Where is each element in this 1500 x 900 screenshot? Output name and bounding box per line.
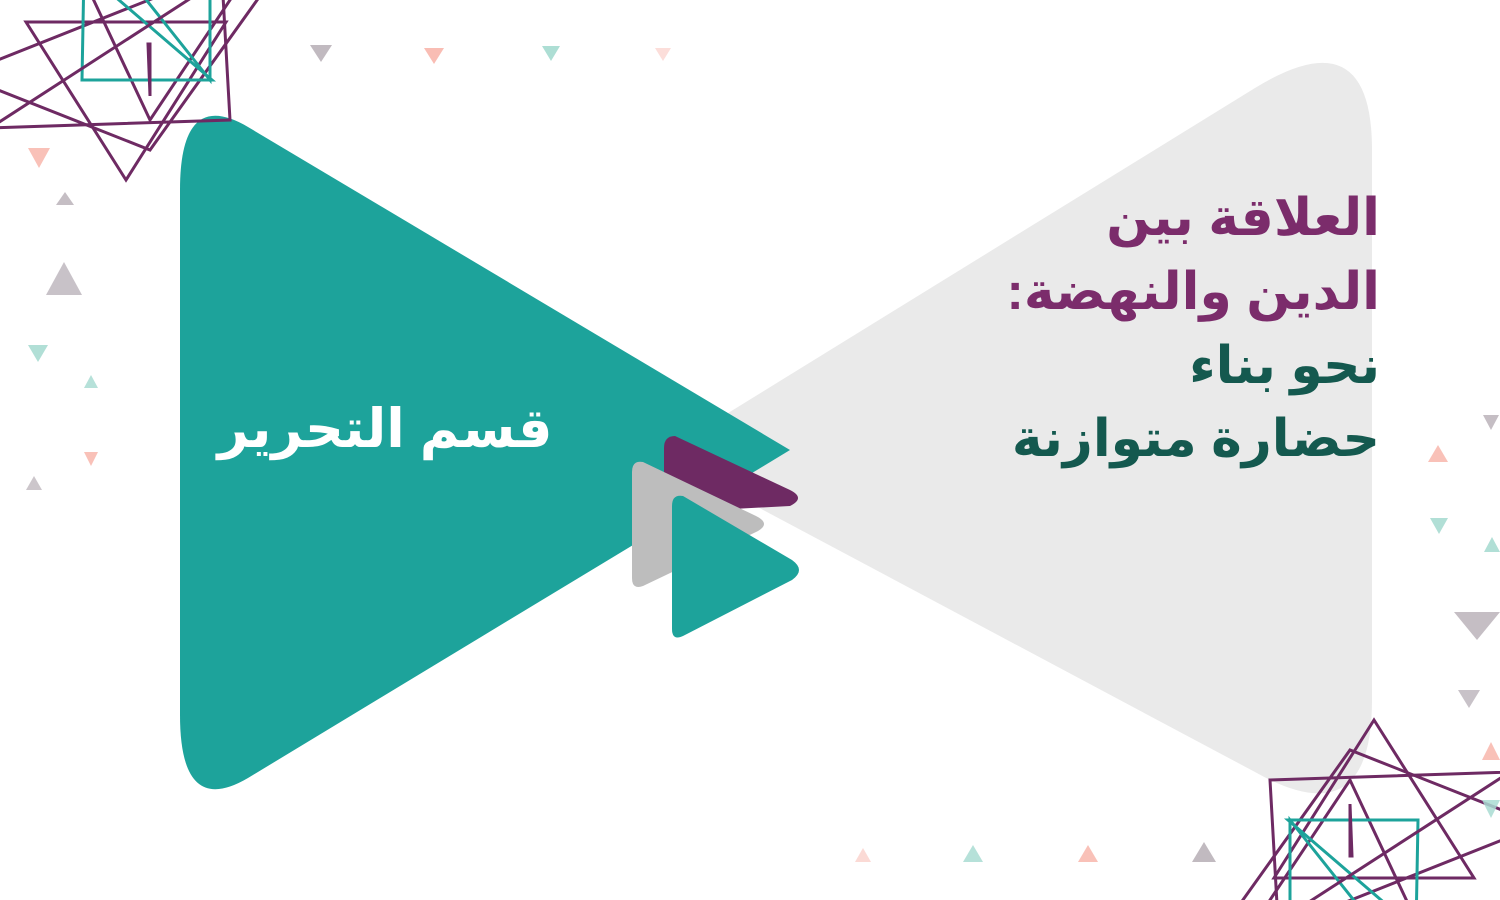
slide-canvas: قسم التحرير العلاقة بين الدين والنهضة: ن… [0,0,1500,900]
play-triangles-logo [0,0,1500,900]
